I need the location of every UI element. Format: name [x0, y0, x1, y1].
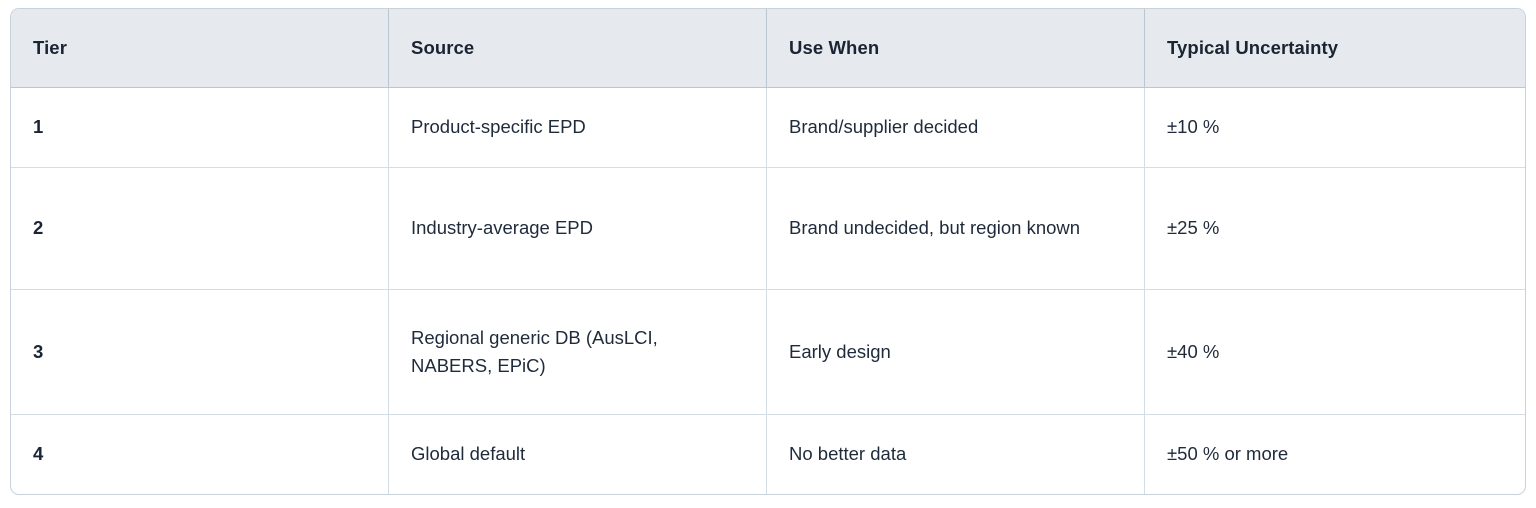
table-row: 2 Industry-average EPD Brand undecided, …: [11, 168, 1525, 290]
cell-source: Regional generic DB (AusLCI, NABERS, EPi…: [389, 290, 767, 415]
cell-use-when: Brand/supplier decided: [767, 88, 1145, 168]
cell-tier: 3: [11, 290, 389, 415]
cell-use-when-text: Brand/supplier decided: [789, 113, 1089, 141]
column-header-tier[interactable]: Tier: [11, 9, 389, 88]
table-header: Tier Source Use When Typical Uncertainty: [11, 9, 1525, 88]
table-body: 1 Product-specific EPD Brand/supplier de…: [11, 88, 1525, 494]
cell-use-when: No better data: [767, 415, 1145, 494]
cell-source: Product-specific EPD: [389, 88, 767, 168]
cell-source-text: Global default: [411, 440, 711, 468]
tier-data-table: Tier Source Use When Typical Uncertainty…: [10, 8, 1526, 495]
column-header-use-when[interactable]: Use When: [767, 9, 1145, 88]
cell-tier: 4: [11, 415, 389, 494]
table-row: 4 Global default No better data ±50 % or…: [11, 415, 1525, 494]
table-row: 3 Regional generic DB (AusLCI, NABERS, E…: [11, 290, 1525, 415]
table-header-row: Tier Source Use When Typical Uncertainty: [11, 9, 1525, 88]
cell-uncertainty: ±40 %: [1145, 290, 1525, 415]
cell-uncertainty-text: ±25 %: [1167, 217, 1219, 238]
cell-use-when: Brand undecided, but region known: [767, 168, 1145, 290]
cell-uncertainty: ±10 %: [1145, 88, 1525, 168]
cell-use-when-text: Brand undecided, but region known: [789, 214, 1089, 242]
table-row: 1 Product-specific EPD Brand/supplier de…: [11, 88, 1525, 168]
cell-use-when-text: Early design: [789, 338, 1089, 366]
cell-source-text: Regional generic DB (AusLCI, NABERS, EPi…: [411, 324, 711, 380]
column-header-typical-uncertainty[interactable]: Typical Uncertainty: [1145, 9, 1525, 88]
cell-uncertainty-text: ±50 % or more: [1167, 443, 1288, 464]
column-header-source[interactable]: Source: [389, 9, 767, 88]
cell-source-text: Product-specific EPD: [411, 113, 711, 141]
cell-tier: 2: [11, 168, 389, 290]
cell-source-text: Industry-average EPD: [411, 214, 711, 242]
cell-source: Industry-average EPD: [389, 168, 767, 290]
cell-uncertainty: ±25 %: [1145, 168, 1525, 290]
cell-use-when: Early design: [767, 290, 1145, 415]
cell-uncertainty: ±50 % or more: [1145, 415, 1525, 494]
tier-table-container: Tier Source Use When Typical Uncertainty…: [10, 8, 1524, 494]
cell-use-when-text: No better data: [789, 440, 1089, 468]
page-root: Tier Source Use When Typical Uncertainty…: [0, 0, 1536, 508]
cell-source: Global default: [389, 415, 767, 494]
cell-uncertainty-text: ±40 %: [1167, 341, 1219, 362]
cell-uncertainty-text: ±10 %: [1167, 116, 1219, 137]
cell-tier: 1: [11, 88, 389, 168]
